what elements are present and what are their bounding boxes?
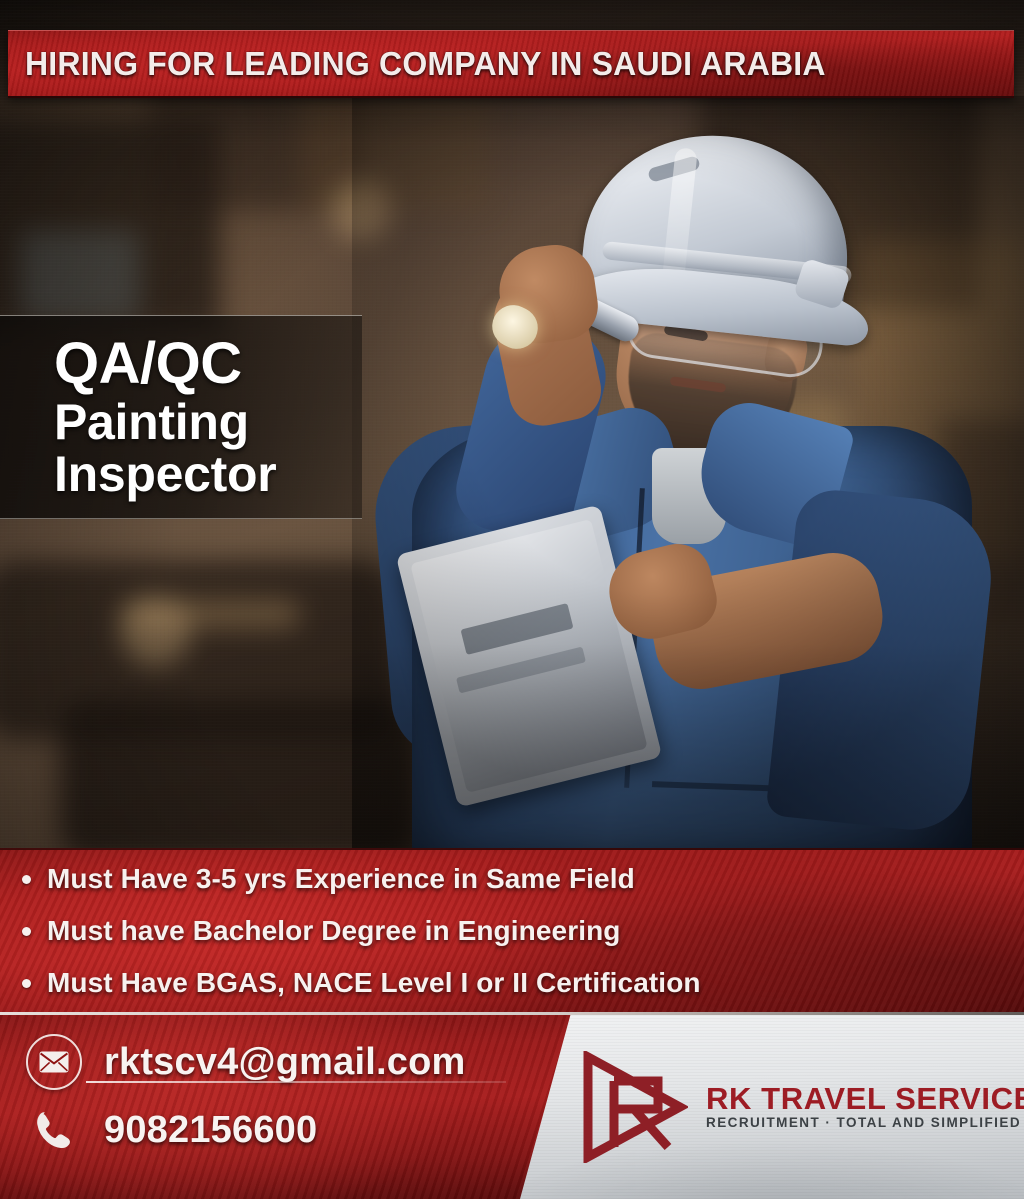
contact-phone-row[interactable]: 9082156600 — [26, 1099, 317, 1161]
contact-separator — [86, 1081, 506, 1083]
contact-footer: rktscv4@gmail.com 9082156600 — [0, 1012, 1024, 1199]
job-title-line-2: Painting — [54, 397, 362, 447]
job-title-panel: QA/QC Painting Inspector — [0, 315, 362, 519]
bullet-dot-icon — [22, 927, 31, 936]
requirement-item: Must Have 3-5 yrs Experience in Same Fie… — [22, 853, 1024, 905]
envelope-icon — [26, 1034, 82, 1090]
requirement-item: Must have Bachelor Degree in Engineering — [22, 905, 1024, 957]
bullet-dot-icon — [22, 875, 31, 884]
company-name-group: RK TRAVEL SERVICES RECRUITMENT · TOTAL A… — [706, 1083, 1024, 1132]
job-poster: HIRING FOR LEADING COMPANY IN SAUDI ARAB… — [0, 0, 1024, 1199]
requirement-text: Must Have BGAS, NACE Level I or II Certi… — [47, 969, 701, 997]
company-logo-block: RK TRAVEL SERVICES RECRUITMENT · TOTAL A… — [560, 1015, 1024, 1199]
worker-photo-subject — [352, 96, 1024, 856]
rk-monogram-icon — [576, 1051, 688, 1163]
job-title-line-3: Inspector — [54, 449, 362, 499]
phone-icon — [26, 1102, 82, 1158]
headline-banner: HIRING FOR LEADING COMPANY IN SAUDI ARAB… — [8, 30, 1014, 98]
contact-email-row[interactable]: rktscv4@gmail.com — [26, 1031, 466, 1093]
requirement-item: Must Have BGAS, NACE Level I or II Certi… — [22, 957, 1024, 1009]
company-name: RK TRAVEL SERVICES — [706, 1081, 1024, 1116]
phone-text: 9082156600 — [104, 1111, 317, 1149]
email-text: rktscv4@gmail.com — [104, 1043, 466, 1081]
job-title-line-1: QA/QC — [54, 335, 362, 393]
requirements-band: Must Have 3-5 yrs Experience in Same Fie… — [0, 848, 1024, 1012]
headline-text: HIRING FOR LEADING COMPANY IN SAUDI ARAB… — [25, 47, 826, 80]
contact-details: rktscv4@gmail.com 9082156600 — [0, 1015, 560, 1199]
bullet-dot-icon — [22, 979, 31, 988]
requirement-text: Must have Bachelor Degree in Engineering — [47, 917, 620, 945]
requirement-text: Must Have 3-5 yrs Experience in Same Fie… — [47, 865, 635, 893]
company-tagline: RECRUITMENT · TOTAL AND SIMPLIFIED — [706, 1115, 1021, 1130]
